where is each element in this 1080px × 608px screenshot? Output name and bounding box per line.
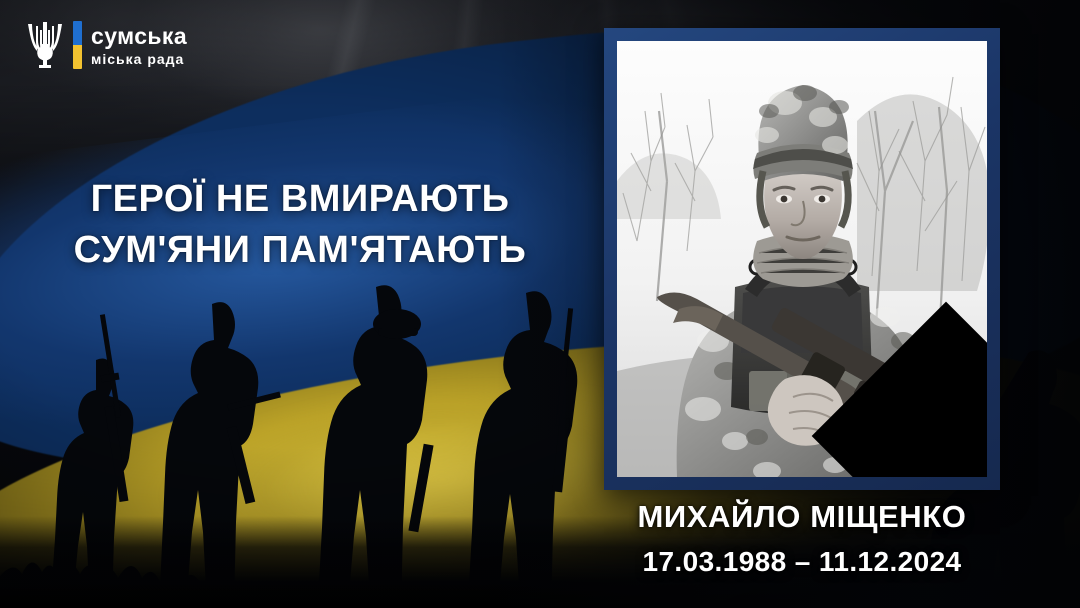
logo-line-2: міська рада: [91, 52, 187, 66]
logo-wordmark: сумська міська рада: [91, 25, 187, 66]
fallen-soldier-name: МИХАЙЛО МІЩЕНКО: [604, 500, 1000, 534]
ukrainian-trident-icon: [26, 20, 64, 70]
headline-line-2: СУМ'ЯНИ ПАМ'ЯТАЮТЬ: [0, 225, 600, 276]
fallen-soldier-dates: 17.03.1988 – 11.12.2024: [604, 546, 1000, 578]
ukraine-flag-bar-icon: [73, 21, 82, 69]
memorial-caption: МИХАЙЛО МІЩЕНКО 17.03.1988 – 11.12.2024: [604, 500, 1000, 578]
headline-line-1: ГЕРОЇ НЕ ВМИРАЮТЬ: [0, 174, 600, 225]
memorial-headline: ГЕРОЇ НЕ ВМИРАЮТЬ СУМ'ЯНИ ПАМ'ЯТАЮТЬ: [0, 174, 600, 276]
portrait-photo: [617, 41, 987, 477]
logo-line-1: сумська: [91, 25, 187, 48]
portrait-frame: [604, 28, 1000, 490]
sumy-city-council-logo[interactable]: сумська міська рада: [26, 20, 187, 70]
memorial-poster: сумська міська рада ГЕРОЇ НЕ ВМИРАЮТЬ СУ…: [0, 0, 1080, 608]
